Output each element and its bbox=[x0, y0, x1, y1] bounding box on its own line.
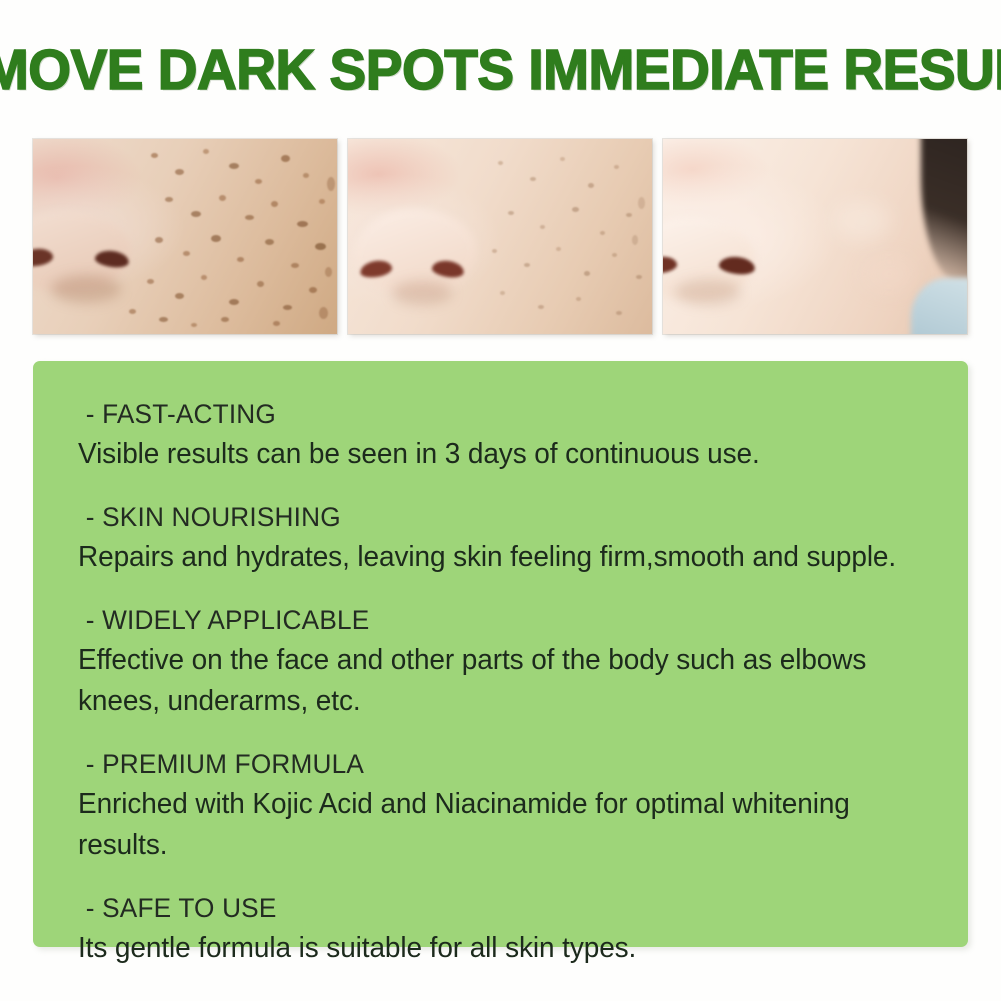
feature-body: Its gentle formula is suitable for all s… bbox=[78, 928, 908, 969]
features-list: - FAST-ACTING Visible results can be see… bbox=[78, 394, 938, 969]
feature-body-line: Repairs and hydrates, leaving skin feeli… bbox=[78, 537, 908, 578]
feature-premium-formula: - PREMIUM FORMULA Enriched with Kojic Ac… bbox=[78, 744, 938, 866]
feature-body-line: results. bbox=[78, 825, 908, 866]
feature-body-line: Effective on the face and other parts of… bbox=[78, 640, 908, 681]
feature-body-line: Enriched with Kojic Acid and Niacinamide… bbox=[78, 784, 908, 825]
feature-heading: - SAFE TO USE bbox=[78, 888, 912, 928]
feature-heading: - FAST-ACTING bbox=[78, 394, 912, 434]
before-photo bbox=[33, 139, 337, 334]
feature-widely-applicable: - WIDELY APPLICABLE Effective on the fac… bbox=[78, 600, 938, 722]
feature-heading: - SKIN NOURISHING bbox=[78, 497, 912, 537]
feature-fast-acting: - FAST-ACTING Visible results can be see… bbox=[78, 394, 938, 475]
page-title: REMOVE DARK SPOTS IMMEDIATE RESULTS bbox=[0, 42, 1001, 99]
feature-body: Enriched with Kojic Acid and Niacinamide… bbox=[78, 784, 908, 866]
before-after-photo-strip bbox=[33, 139, 968, 334]
feature-body-line: knees, underarms, etc. bbox=[78, 681, 908, 722]
feature-body-line: Its gentle formula is suitable for all s… bbox=[78, 928, 908, 969]
headline-banner: REMOVE DARK SPOTS IMMEDIATE RESULTS bbox=[0, 42, 1001, 98]
dark-spot-cluster-light bbox=[348, 139, 652, 334]
feature-body: Repairs and hydrates, leaving skin feeli… bbox=[78, 537, 908, 578]
feature-safe-to-use: - SAFE TO USE Its gentle formula is suit… bbox=[78, 888, 938, 969]
clear-skin-highlight bbox=[663, 139, 967, 334]
features-panel: - FAST-ACTING Visible results can be see… bbox=[33, 361, 968, 947]
after-photo bbox=[663, 139, 967, 334]
during-photo bbox=[348, 139, 652, 334]
dark-spot-cluster-heavy bbox=[33, 139, 337, 334]
feature-heading: - PREMIUM FORMULA bbox=[78, 744, 912, 784]
feature-body-line: Visible results can be seen in 3 days of… bbox=[78, 434, 908, 475]
feature-heading: - WIDELY APPLICABLE bbox=[78, 600, 912, 640]
feature-skin-nourishing: - SKIN NOURISHING Repairs and hydrates, … bbox=[78, 497, 938, 578]
feature-body: Visible results can be seen in 3 days of… bbox=[78, 434, 908, 475]
feature-body: Effective on the face and other parts of… bbox=[78, 640, 908, 722]
